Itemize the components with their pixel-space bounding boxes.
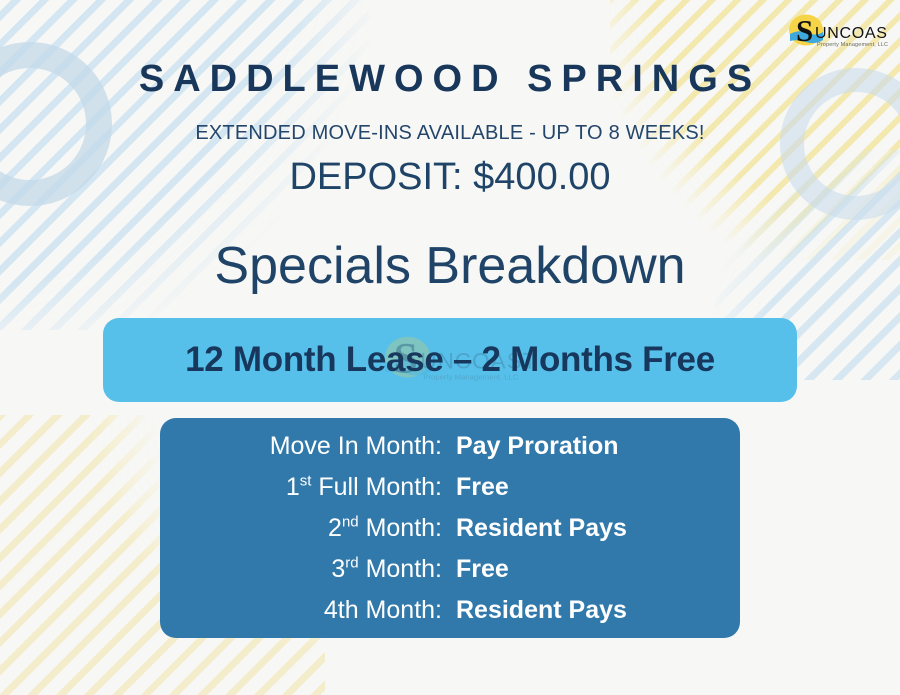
breakdown-value: Free: [456, 555, 740, 584]
breakdown-label: 1st Full Month:: [160, 473, 456, 502]
flyer-content: S UNCOAST Property Management, LLC SADDL…: [0, 0, 900, 695]
section-title: Specials Breakdown: [0, 236, 900, 296]
table-row: Move In Month: Pay Proration: [160, 432, 740, 473]
breakdown-label: Move In Month:: [160, 432, 456, 461]
breakdown-value: Resident Pays: [456, 514, 740, 543]
suncoast-logo-icon: S UNCOAST Property Management, LLC: [784, 10, 888, 54]
breakdown-ordinal-suffix: rd: [345, 555, 358, 572]
page-title: SADDLEWOOD SPRINGS: [0, 58, 900, 101]
breakdown-label: 3rd Month:: [160, 555, 456, 584]
promo-subtitle: EXTENDED MOVE-INS AVAILABLE - UP TO 8 WE…: [0, 122, 900, 145]
breakdown-table: Move In Month: Pay Proration 1st Full Mo…: [160, 418, 740, 638]
breakdown-ordinal-number: 3: [331, 555, 345, 583]
deposit-amount: DEPOSIT: $400.00: [0, 156, 900, 199]
svg-text:UNCOAST: UNCOAST: [815, 25, 888, 42]
breakdown-ordinal-number: 1: [286, 473, 300, 501]
suncoast-logo: S UNCOAST Property Management, LLC: [784, 10, 888, 54]
table-row: 1st Full Month: Free: [160, 473, 740, 514]
breakdown-value: Resident Pays: [456, 596, 740, 625]
breakdown-label-rest: Month:: [359, 514, 442, 542]
breakdown-ordinal-suffix: st: [300, 473, 312, 490]
lease-offer-text: 12 Month Lease – 2 Months Free: [185, 340, 715, 380]
flyer-canvas: S UNCOAST Property Management, LLC SADDL…: [0, 0, 900, 695]
breakdown-ordinal-suffix: nd: [342, 514, 359, 531]
breakdown-label: 4th Month:: [160, 596, 456, 625]
table-row: 2nd Month: Resident Pays: [160, 514, 740, 555]
breakdown-ordinal-number: 2: [328, 514, 342, 542]
svg-text:S: S: [796, 13, 813, 48]
breakdown-label-rest: Full Month:: [311, 473, 442, 501]
breakdown-label-rest: Month:: [359, 555, 442, 583]
table-row: 4th Month: Resident Pays: [160, 596, 740, 637]
table-row: 3rd Month: Free: [160, 555, 740, 596]
breakdown-value: Free: [456, 473, 740, 502]
breakdown-value: Pay Proration: [456, 432, 740, 461]
svg-text:Property Management, LLC: Property Management, LLC: [817, 42, 888, 48]
breakdown-label: 2nd Month:: [160, 514, 456, 543]
lease-offer-banner: S UNCOAST Property Management, LLC 12 Mo…: [103, 318, 797, 402]
